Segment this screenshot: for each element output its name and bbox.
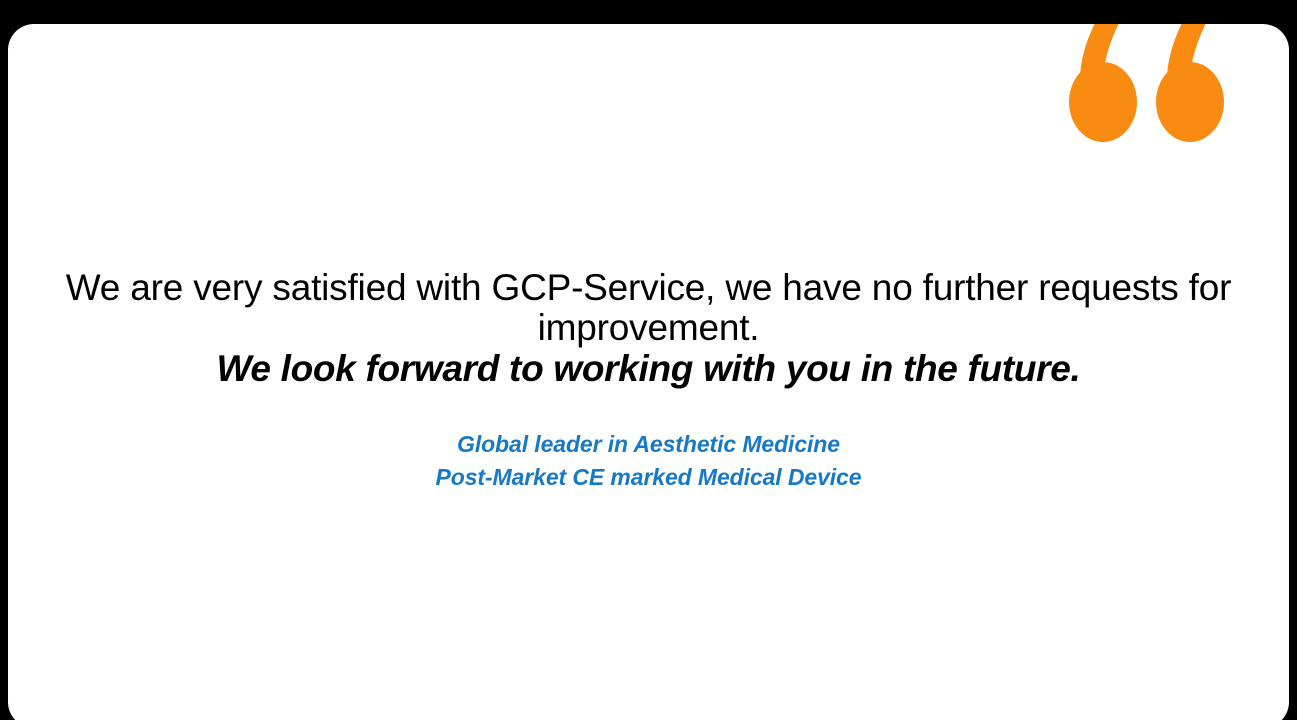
quote-text-block: We are very satisfied with GCP-Service, … — [64, 268, 1233, 389]
quotation-mark-icon — [1048, 24, 1238, 158]
quote-line-2: improvement. — [64, 308, 1233, 348]
attribution-block: Global leader in Aesthetic Medicine Post… — [64, 428, 1233, 494]
attribution-line-2: Post-Market CE marked Medical Device — [64, 461, 1233, 494]
quote-line-1: We are very satisfied with GCP-Service, … — [64, 268, 1233, 308]
quote-line-3-emphasis: We look forward to working with you in t… — [64, 349, 1233, 389]
slide-backdrop: We are very satisfied with GCP-Service, … — [0, 0, 1297, 720]
attribution-line-1: Global leader in Aesthetic Medicine — [64, 428, 1233, 461]
